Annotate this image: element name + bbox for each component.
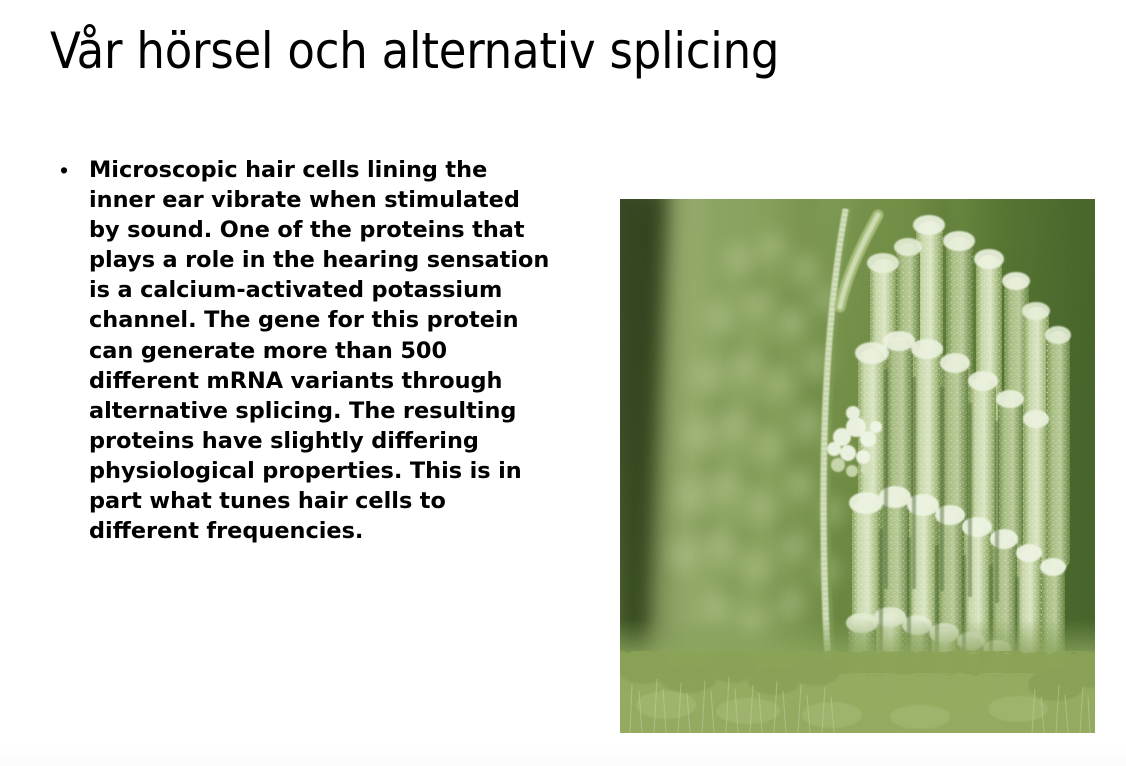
bullet-list-item: • Microscopic hair cells lining the inne… <box>52 155 552 546</box>
stereocilia-micrograph-image <box>620 199 1095 733</box>
bullet-item-text: Microscopic hair cells lining the inner … <box>89 155 552 546</box>
bullet-marker-icon: • <box>60 155 68 185</box>
micrograph-artwork <box>620 199 1095 733</box>
presentation-slide: Vår hörsel och alternativ splicing • Mic… <box>0 0 1126 766</box>
body-text-block: • Microscopic hair cells lining the inne… <box>52 155 552 546</box>
slide-title: Vår hörsel och alternativ splicing <box>50 22 1070 80</box>
slide-bottom-band <box>0 744 1126 766</box>
